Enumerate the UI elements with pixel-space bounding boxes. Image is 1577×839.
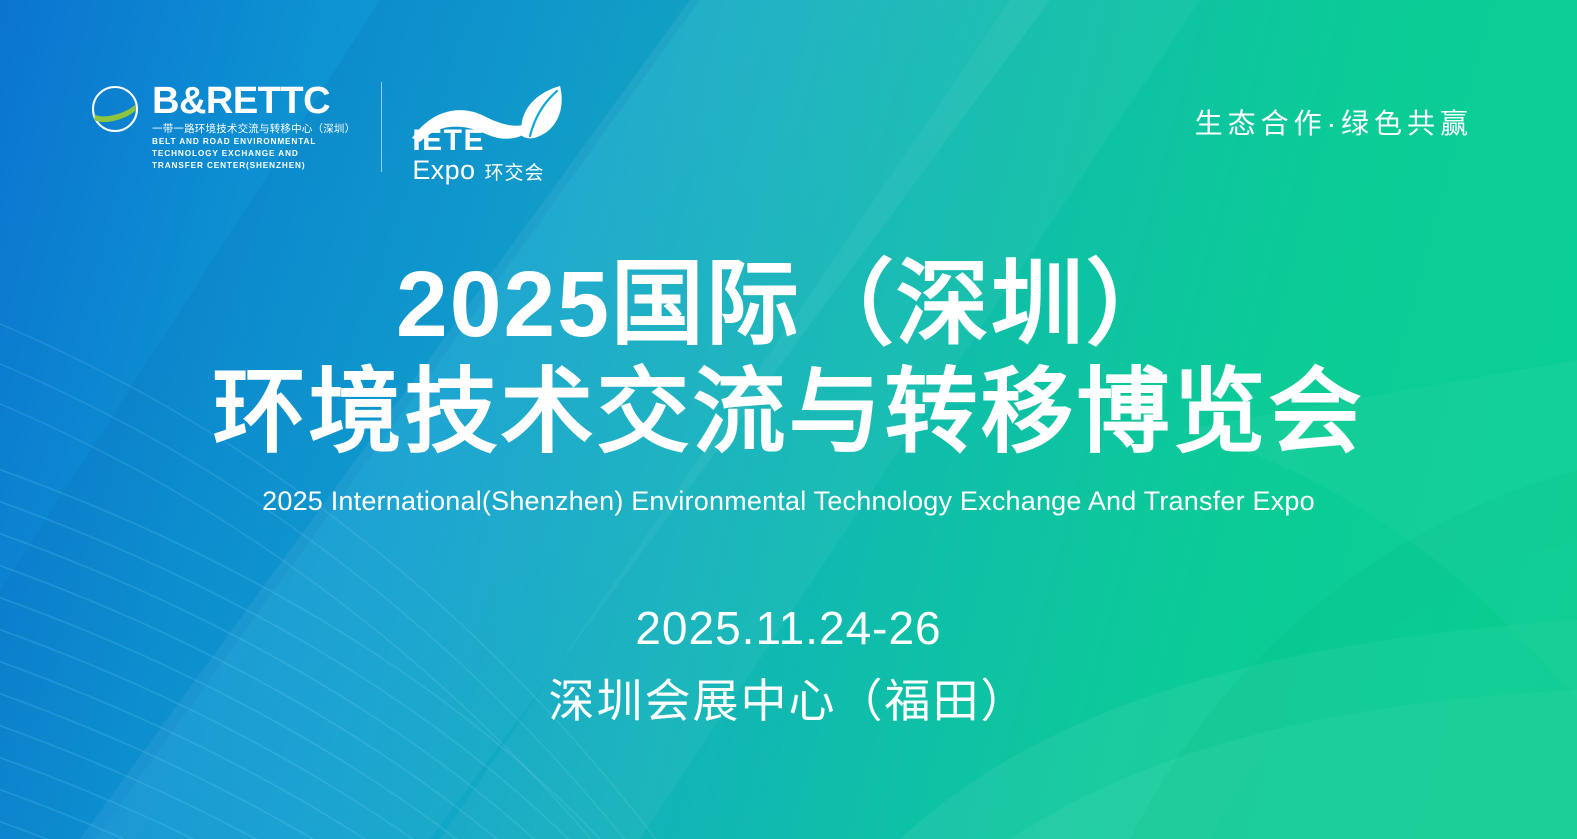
- brettc-chinese-name: 一带一路环境技术交流与转移中心（深圳）: [152, 122, 355, 136]
- event-date: 2025.11.24-26: [0, 601, 1577, 655]
- logo-group: B&RETTC 一带一路环境技术交流与转移中心（深圳） BELT AND ROA…: [88, 82, 578, 186]
- iete-wordmark: IETE: [412, 127, 544, 156]
- brettc-english-name: BELT AND ROAD ENVIRONMENTAL TECHNOLOGY E…: [152, 136, 352, 172]
- iete-subtitle-row: Expo 环交会: [412, 157, 544, 184]
- brettc-text-block: B&RETTC 一带一路环境技术交流与转移中心（深圳） BELT AND ROA…: [152, 82, 355, 172]
- banner-slogan: 生态合作·绿色共赢: [1195, 102, 1473, 142]
- iete-expo-word: Expo: [412, 157, 475, 184]
- banner-main-content: 2025国际（深圳） 环境技术交流与转移博览会 2025 Internation…: [0, 255, 1577, 731]
- event-title-line-1: 2025国际（深圳）: [0, 255, 1577, 354]
- iete-wordmark-block: IETE Expo 环交会: [412, 127, 544, 185]
- iete-expo-logo: IETE Expo 环交会: [410, 82, 578, 186]
- banner-header: B&RETTC 一带一路环境技术交流与转移中心（深圳） BELT AND ROA…: [0, 0, 1577, 210]
- event-venue: 深圳会展中心（福田）: [0, 665, 1577, 731]
- event-title-english: 2025 International(Shenzhen) Environment…: [0, 486, 1577, 517]
- globe-icon: [88, 82, 144, 138]
- brettc-logo: B&RETTC 一带一路环境技术交流与转移中心（深圳） BELT AND ROA…: [88, 82, 382, 172]
- brettc-wordmark: B&RETTC: [152, 83, 355, 119]
- event-banner: B&RETTC 一带一路环境技术交流与转移中心（深圳） BELT AND ROA…: [0, 0, 1577, 839]
- event-title-line-2: 环境技术交流与转移博览会: [0, 360, 1577, 464]
- iete-chinese-name: 环交会: [484, 164, 544, 183]
